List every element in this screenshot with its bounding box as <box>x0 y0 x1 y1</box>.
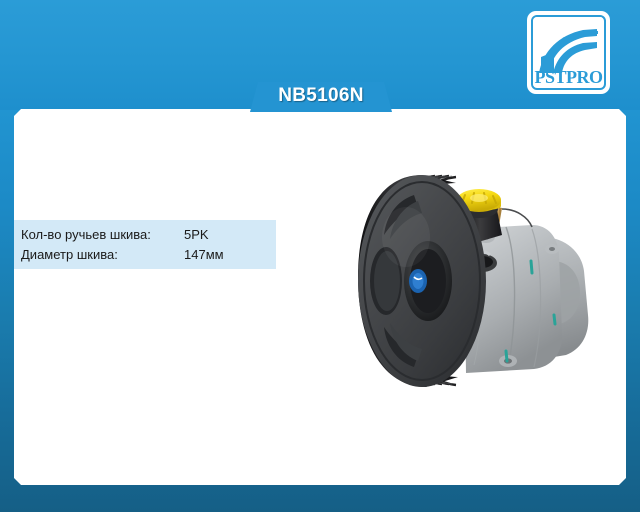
specifications-box: Кол-во ручьев шкива: 5PK Диаметр шкива: … <box>14 220 276 269</box>
brand-logo[interactable]: PSTPRO <box>527 11 610 94</box>
product-card: PSTPRO NB5106N Кол-во ручьев шкива: 5PK … <box>0 0 640 512</box>
spec-row: Диаметр шкива: 147мм <box>21 245 276 265</box>
part-number-title: NB5106N <box>250 82 392 112</box>
spec-value-pulley-grooves: 5PK <box>184 225 209 245</box>
logo-frame: PSTPRO <box>531 15 606 90</box>
product-image <box>356 165 608 405</box>
spec-row: Кол-во ручьев шкива: 5PK <box>21 225 276 245</box>
power-steering-pump-illustration <box>356 165 608 405</box>
logo-wordmark: PSTPRO <box>533 68 604 86</box>
spec-label-pulley-diameter: Диаметр шкива: <box>21 245 184 265</box>
spec-value-pulley-diameter: 147мм <box>184 245 224 265</box>
spec-label-pulley-grooves: Кол-во ручьев шкива: <box>21 225 184 245</box>
